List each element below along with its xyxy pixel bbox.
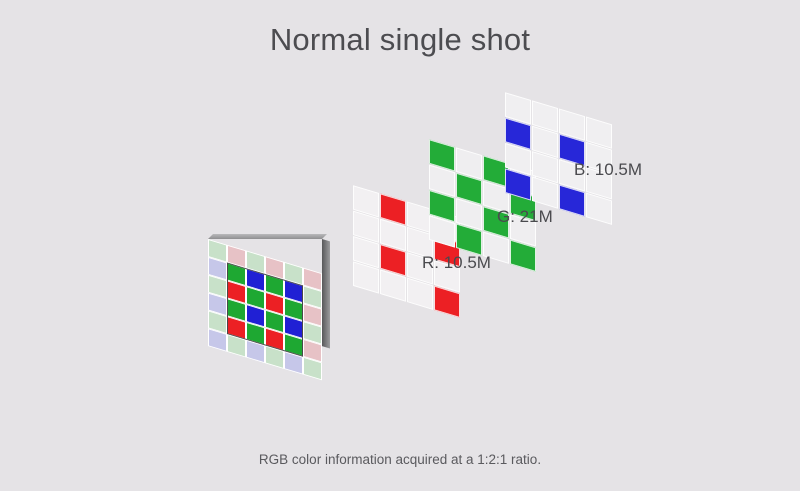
sensor-front-face: [208, 239, 322, 380]
sensor-top-bevel: [208, 234, 327, 239]
bayer-sensor: [208, 239, 322, 353]
sensor-cell-grid: [208, 239, 322, 380]
page-title: Normal single shot: [0, 22, 800, 58]
green-channel-label: G: 21M: [497, 207, 553, 227]
blue-channel-label: B: 10.5M: [574, 160, 642, 180]
diagram-caption: RGB color information acquired at a 1:2:…: [0, 452, 800, 467]
sensor-side-face: [322, 239, 330, 349]
red-channel-label: R: 10.5M: [422, 253, 491, 273]
diagram-stage: Normal single shot R: 10.5M G: 21M B: 10…: [0, 0, 800, 491]
